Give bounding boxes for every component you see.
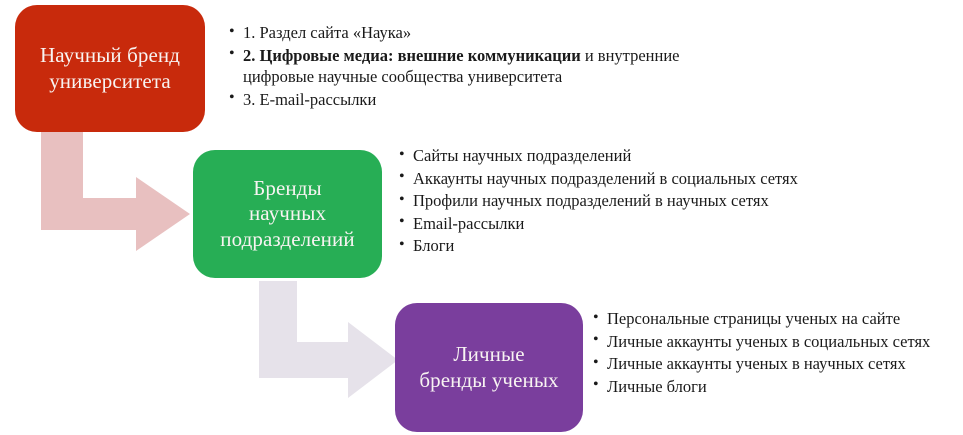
bullet-text: Профили научных подразделений в научных … bbox=[413, 191, 769, 210]
list-item: Личные аккаунты ученых в социальных сетя… bbox=[592, 331, 963, 353]
node-brand-scientists-label: Личные бренды ученых bbox=[409, 342, 568, 393]
bullet-text-bold: 2. Цифровые медиа: внешние коммуникации bbox=[243, 46, 581, 65]
list-item: Личные блоги bbox=[592, 376, 963, 398]
bullet-text: Личные блоги bbox=[607, 377, 707, 396]
bullet-text: Email-рассылки bbox=[413, 214, 524, 233]
bullet-list-scientists: Персональные страницы ученых на сайте Ли… bbox=[592, 308, 963, 398]
bullet-text: 3. E-mail-рассылки bbox=[243, 90, 376, 109]
bullet-text: Сайты научных подразделений bbox=[413, 146, 631, 165]
node-brand-university-label: Научный бренд университета bbox=[30, 43, 190, 94]
bullet-text: Личные аккаунты ученых в социальных сетя… bbox=[607, 332, 930, 351]
bullet-text: Блоги bbox=[413, 236, 454, 255]
list-item: Личные аккаунты ученых в научных сетях bbox=[592, 353, 963, 375]
bullet-text: Персональные страницы ученых на сайте bbox=[607, 309, 900, 328]
list-item: 2. Цифровые медиа: внешние коммуникации … bbox=[228, 45, 748, 88]
list-item: Email-рассылки bbox=[398, 213, 848, 235]
elbow-arrow-university-to-departments bbox=[41, 131, 190, 251]
bullet-list-university: 1. Раздел сайта «Наука» 2. Цифровые меди… bbox=[228, 22, 748, 111]
bullet-text: Личные аккаунты ученых в научных сетях bbox=[607, 354, 906, 373]
bullet-text: 1. Раздел сайта «Наука» bbox=[243, 23, 411, 42]
list-item: 3. E-mail-рассылки bbox=[228, 89, 748, 111]
list-item: 1. Раздел сайта «Наука» bbox=[228, 22, 748, 44]
node-brand-departments-label: Бренды научных подразделений bbox=[210, 176, 364, 253]
bullet-text: Аккаунты научных подразделений в социаль… bbox=[413, 169, 798, 188]
list-item: Аккаунты научных подразделений в социаль… bbox=[398, 168, 848, 190]
list-item: Сайты научных подразделений bbox=[398, 145, 848, 167]
elbow-arrow-departments-to-scientists bbox=[259, 281, 398, 398]
diagram-canvas: Научный бренд университета 1. Раздел сай… bbox=[0, 0, 963, 435]
node-brand-departments[interactable]: Бренды научных подразделений bbox=[193, 150, 382, 278]
list-item: Блоги bbox=[398, 235, 848, 257]
list-item: Персональные страницы ученых на сайте bbox=[592, 308, 963, 330]
bullet-list-departments: Сайты научных подразделений Аккаунты нау… bbox=[398, 145, 848, 258]
list-item: Профили научных подразделений в научных … bbox=[398, 190, 848, 212]
node-brand-university[interactable]: Научный бренд университета bbox=[15, 5, 205, 132]
node-brand-scientists[interactable]: Личные бренды ученых bbox=[395, 303, 583, 432]
